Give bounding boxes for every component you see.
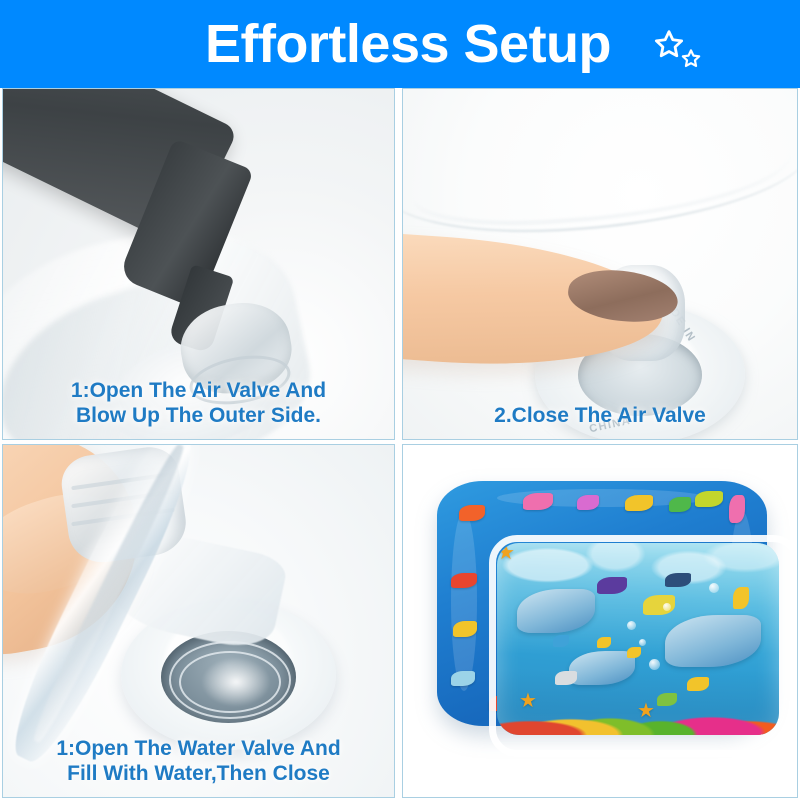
starfish-icon: ★ bbox=[637, 701, 655, 721]
caption-line: Blow Up The Outer Side. bbox=[11, 404, 386, 429]
fish-icon bbox=[657, 693, 677, 706]
product-infographic: Effortless Setup 1:Ope bbox=[0, 0, 800, 800]
star-icon bbox=[680, 48, 702, 70]
photo-finished-product: ★ ★ ★ bbox=[403, 445, 797, 797]
caption-line: Fill With Water,Then Close bbox=[11, 762, 386, 787]
panel-fill-water: 1:Open The Water Valve And Fill With Wat… bbox=[2, 444, 395, 798]
panel-caption: 1:Open The Water Valve And Fill With Wat… bbox=[3, 731, 394, 797]
bubble-icon bbox=[627, 621, 636, 630]
border-fish bbox=[453, 621, 477, 637]
panel-caption: 2.Close The Air Valve bbox=[403, 398, 797, 439]
mat-highlight bbox=[451, 511, 477, 691]
water-splash bbox=[201, 657, 271, 707]
border-fish bbox=[451, 573, 477, 588]
star-decoration-group bbox=[650, 28, 720, 74]
fish-icon bbox=[597, 577, 627, 594]
fish-icon bbox=[733, 587, 749, 609]
water-play-mat: ★ ★ ★ bbox=[437, 481, 767, 726]
steps-grid: 1:Open The Air Valve And Blow Up The Out… bbox=[0, 88, 800, 800]
dolphin-icon bbox=[665, 615, 761, 667]
fish-icon bbox=[665, 573, 691, 587]
border-fish bbox=[459, 505, 485, 521]
border-fish bbox=[451, 671, 475, 686]
mat-crease bbox=[412, 122, 795, 227]
page-title: Effortless Setup bbox=[205, 17, 611, 71]
bubble-icon bbox=[649, 659, 660, 670]
caption-line: 1:Open The Water Valve And bbox=[11, 737, 386, 762]
border-fish bbox=[695, 491, 723, 507]
header-banner: Effortless Setup bbox=[0, 0, 800, 88]
border-fish bbox=[669, 497, 691, 512]
border-fish bbox=[625, 495, 653, 511]
fish-icon bbox=[627, 647, 641, 658]
photo-close-air-valve: MADE IN CHINA bbox=[403, 89, 797, 439]
starfish-icon: ★ bbox=[519, 691, 537, 711]
mat-water-scene: ★ ★ ★ bbox=[497, 543, 779, 735]
border-fish bbox=[577, 495, 599, 510]
border-fish bbox=[523, 493, 553, 510]
bubble-icon bbox=[709, 583, 719, 593]
fish-icon bbox=[555, 671, 577, 685]
fish-icon bbox=[553, 635, 569, 647]
panel-finished-product: ★ ★ ★ bbox=[402, 444, 798, 798]
bubble-icon bbox=[639, 639, 646, 646]
bubble-icon bbox=[663, 603, 671, 611]
fish-icon bbox=[687, 677, 709, 691]
panel-open-air-valve: 1:Open The Air Valve And Blow Up The Out… bbox=[2, 88, 395, 440]
fish-icon bbox=[597, 637, 611, 648]
caption-line: 2.Close The Air Valve bbox=[411, 404, 789, 429]
panel-close-air-valve: MADE IN CHINA 2.Close The Air Valve bbox=[402, 88, 798, 440]
border-seahorse bbox=[729, 495, 745, 523]
starfish-icon: ★ bbox=[497, 543, 515, 563]
caption-line: 1:Open The Air Valve And bbox=[11, 379, 386, 404]
panel-caption: 1:Open The Air Valve And Blow Up The Out… bbox=[3, 373, 394, 439]
